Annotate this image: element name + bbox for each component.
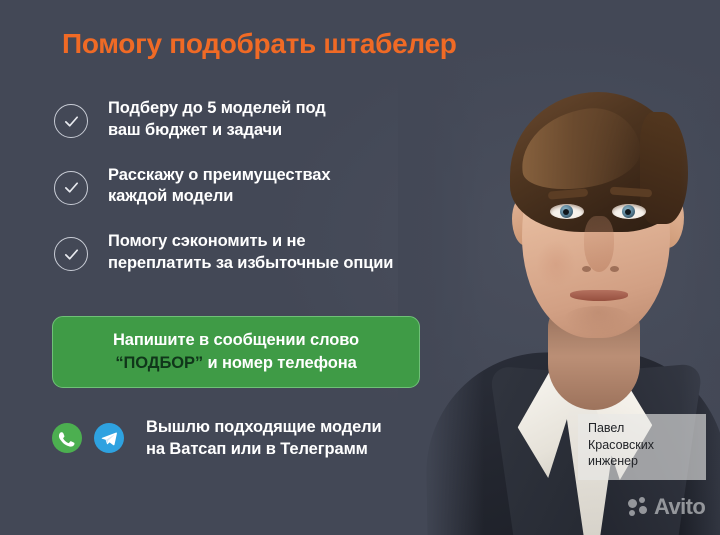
pupil-right [625,209,631,215]
callout-keyword: ПОДБОР [124,354,195,372]
chin [562,306,634,336]
benefits-list: Подберу до 5 моделей под ваш бюджет и за… [54,98,474,298]
messenger-label: Вышлю подходящие модели на Ватсап или в … [146,416,382,461]
page-title: Помогу подобрать штабелер [62,28,457,60]
list-item-label: Помогу сэкономить и не переплатить за из… [108,231,393,275]
mouth [570,290,628,301]
list-item: Помогу сэкономить и не переплатить за из… [54,231,474,275]
callout-quote-open: “ [115,354,123,372]
list-item: Подберу до 5 моделей под ваш бюджет и за… [54,98,474,142]
messenger-row: Вышлю подходящие модели на Ватсап или в … [52,416,382,461]
callout-quote-close: ” [195,354,203,372]
list-item-label: Расскажу о преимуществах каждой модели [108,165,330,209]
avito-dots-icon [628,497,650,517]
callout-line-2: “ПОДБОР” и номер телефона [115,352,356,375]
avito-wordmark: Avito [654,497,705,517]
avito-watermark: Avito [628,497,705,517]
callout-banner: Напишите в сообщении слово “ПОДБОР” и но… [52,316,420,388]
check-circle-icon [54,171,88,205]
cheek-highlight [536,240,576,288]
pupil-left [563,209,569,215]
ad-canvas: Помогу подобрать штабелер Подберу до 5 м… [0,0,720,535]
nostril-left [582,266,591,272]
check-circle-icon [54,104,88,138]
badge-role: инженер [588,453,696,470]
whatsapp-icon[interactable] [52,423,82,453]
list-item: Расскажу о преимуществах каждой модели [54,165,474,209]
badge-first-name: Павел [588,420,696,437]
check-circle-icon [54,237,88,271]
nose [584,216,614,272]
callout-line-1: Напишите в сообщении слово [113,329,359,352]
callout-line-2-rest: и номер телефона [203,354,357,372]
list-item-label: Подберу до 5 моделей под ваш бюджет и за… [108,98,326,142]
badge-last-name: Красовских [588,437,696,454]
telegram-icon[interactable] [94,423,124,453]
nostril-right [610,266,619,272]
name-badge: Павел Красовских инженер [578,414,706,480]
